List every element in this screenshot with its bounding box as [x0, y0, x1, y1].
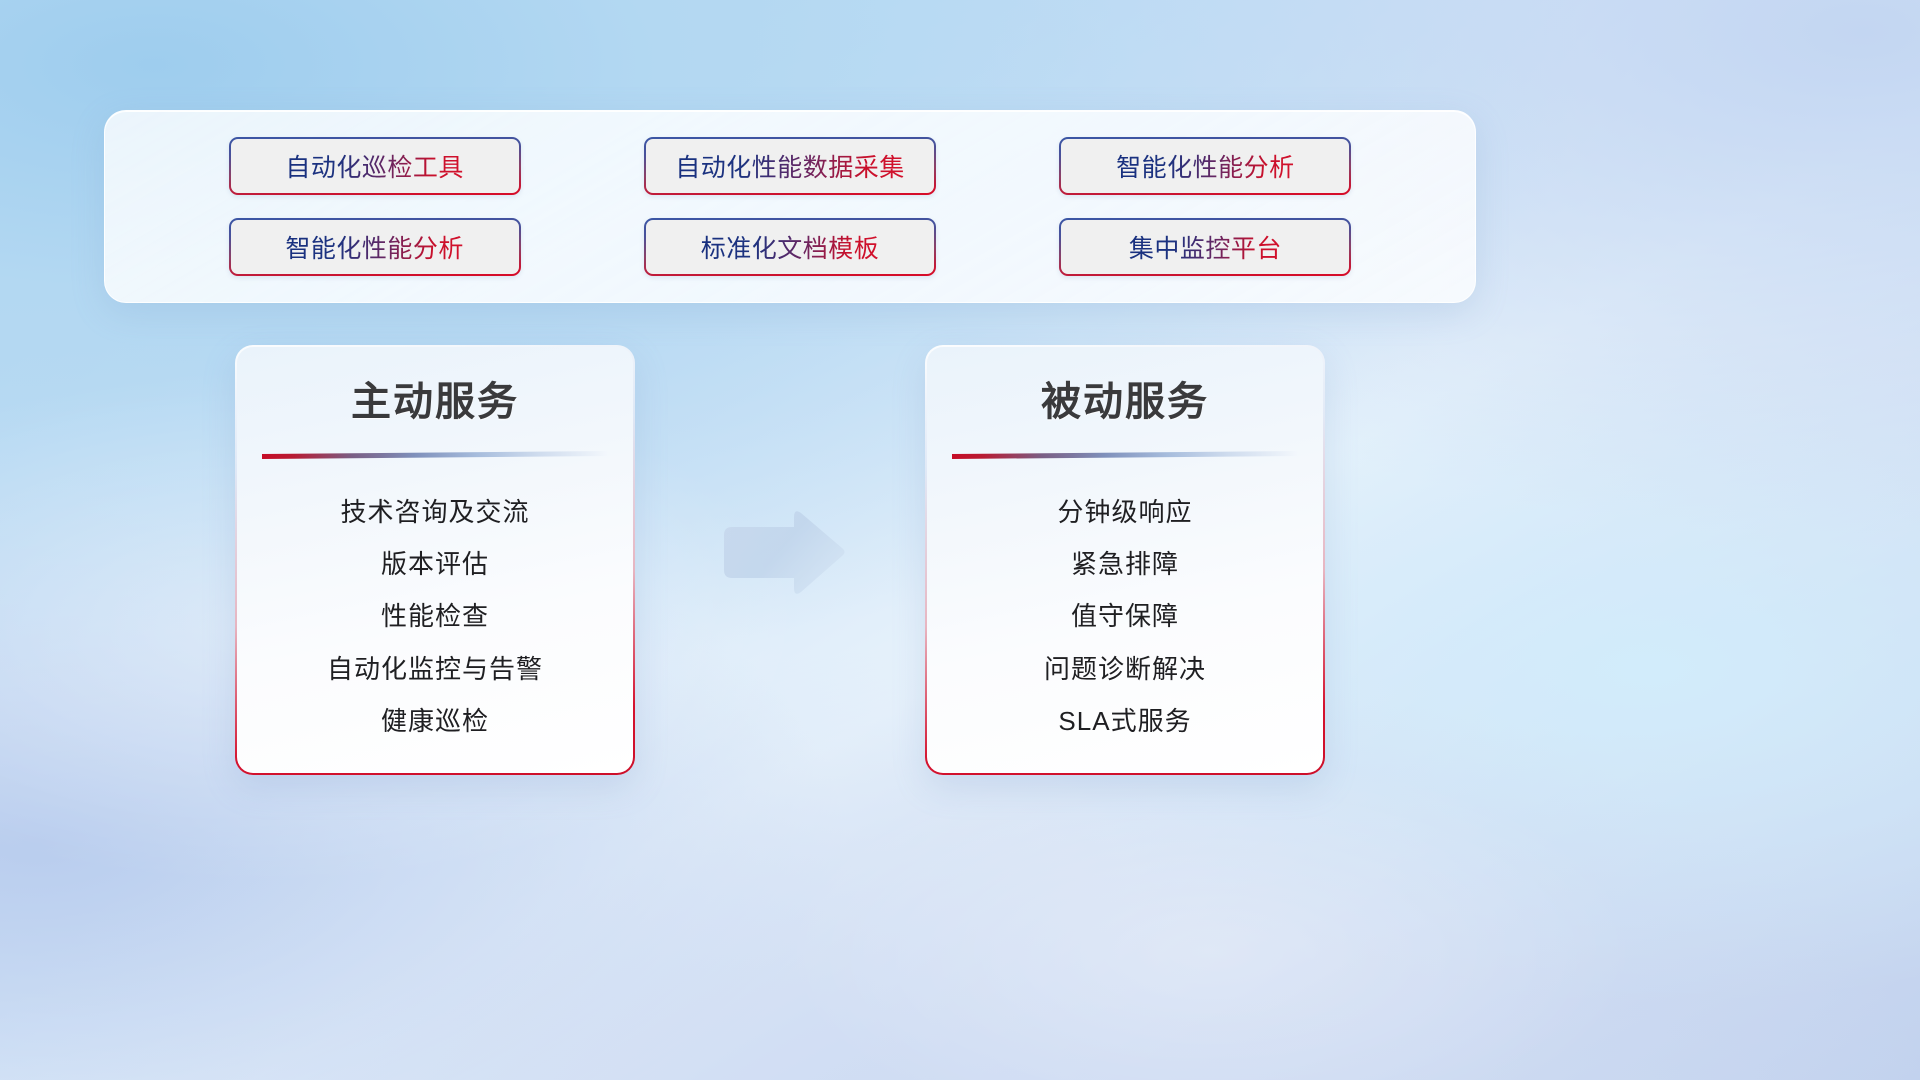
- service-card-reactive[interactable]: 被动服务 分钟级响应 紧急排障 值守保障 问题诊断解决 SLA式服务: [925, 345, 1325, 775]
- chip-surface: 标准化文档模板: [646, 220, 934, 274]
- capability-chip-centralized-monitoring-platform[interactable]: 集中监控平台: [1059, 218, 1351, 276]
- capability-chip-grid: 自动化巡检工具 自动化性能数据采集 智能化性能分析 智能化性能分析: [105, 111, 1475, 302]
- card-surface: 主动服务 技术咨询及交流 版本评估 性能检查 自动化监控与告警 健康巡检: [237, 347, 633, 773]
- chip-surface: 智能化性能分析: [1061, 139, 1349, 193]
- chip-label: 自动化性能数据采集: [675, 148, 905, 184]
- list-item: 性能检查: [381, 596, 489, 633]
- list-item: 自动化监控与告警: [327, 649, 543, 686]
- list-item: 值守保障: [1071, 596, 1179, 633]
- chip-label: 智能化性能分析: [1116, 148, 1295, 184]
- slide-canvas: 自动化巡检工具 自动化性能数据采集 智能化性能分析 智能化性能分析: [0, 0, 1920, 1080]
- card-surface: 被动服务 分钟级响应 紧急排障 值守保障 问题诊断解决 SLA式服务: [927, 347, 1323, 773]
- capability-chip-automated-performance-data-collection[interactable]: 自动化性能数据采集: [644, 137, 936, 195]
- card-title: 被动服务: [1041, 369, 1209, 427]
- service-card-proactive[interactable]: 主动服务 技术咨询及交流 版本评估 性能检查 自动化监控与告警 健康巡检: [235, 345, 635, 775]
- chip-label: 自动化巡检工具: [285, 148, 464, 184]
- list-item: 分钟级响应: [1057, 492, 1192, 529]
- capability-chip-standardized-document-template[interactable]: 标准化文档模板: [644, 218, 936, 276]
- capability-chip-automated-inspection-tool[interactable]: 自动化巡检工具: [229, 137, 521, 195]
- capability-panel: 自动化巡检工具 自动化性能数据采集 智能化性能分析 智能化性能分析: [104, 110, 1476, 303]
- list-item: SLA式服务: [1058, 701, 1191, 738]
- chip-surface: 智能化性能分析: [231, 220, 519, 274]
- title-underline-decoration: [952, 451, 1298, 459]
- list-item: 版本评估: [381, 544, 489, 581]
- chip-surface: 集中监控平台: [1061, 220, 1349, 274]
- chip-surface: 自动化性能数据采集: [646, 139, 934, 193]
- chip-label: 智能化性能分析: [285, 229, 464, 265]
- capability-chip-intelligent-performance-analysis-1[interactable]: 智能化性能分析: [1059, 137, 1351, 195]
- capability-chip-intelligent-performance-analysis-2[interactable]: 智能化性能分析: [229, 218, 521, 276]
- card-title: 主动服务: [351, 369, 519, 427]
- card-item-list: 分钟级响应 紧急排障 值守保障 问题诊断解决 SLA式服务: [927, 473, 1323, 773]
- card-item-list: 技术咨询及交流 版本评估 性能检查 自动化监控与告警 健康巡检: [237, 473, 633, 773]
- chip-label: 标准化文档模板: [701, 229, 880, 265]
- title-underline-decoration: [262, 451, 608, 459]
- chip-surface: 自动化巡检工具: [231, 139, 519, 193]
- right-arrow-icon: [718, 505, 848, 600]
- list-item: 健康巡检: [381, 701, 489, 738]
- list-item: 紧急排障: [1071, 544, 1179, 581]
- list-item: 问题诊断解决: [1044, 649, 1206, 686]
- chip-label: 集中监控平台: [1129, 229, 1282, 265]
- list-item: 技术咨询及交流: [340, 492, 529, 529]
